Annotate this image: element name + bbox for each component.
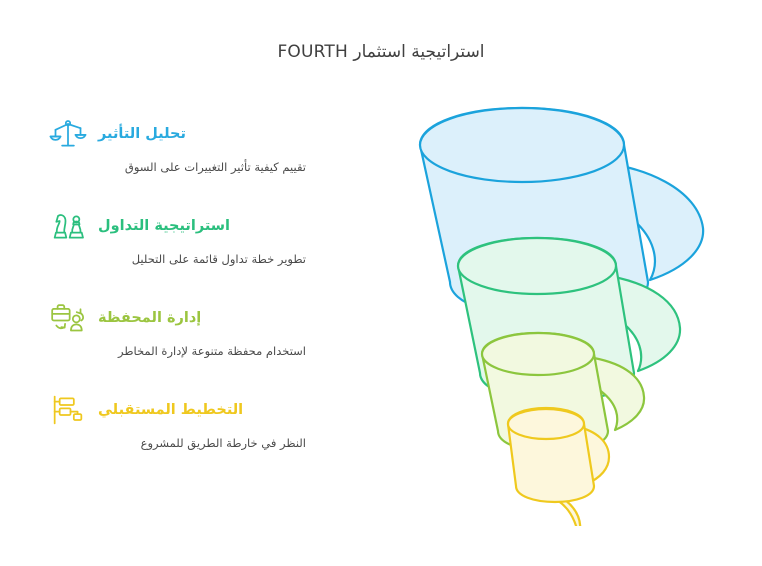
briefcase-person-icon	[48, 298, 88, 338]
list-item-description: استخدام محفظة متنوعة لإدارة المخاطر	[48, 344, 310, 359]
list-item-header: استراتيجية التداول	[48, 204, 310, 248]
list-item-header: تحليل التأثير	[48, 112, 310, 156]
slide-canvas: استراتيجية استثمار FOURTH تحليل التأثير	[0, 0, 762, 566]
list-item-title: التخطيط المستقبلي	[98, 403, 243, 418]
list-item[interactable]: استراتيجية التداول تطوير خطة تداول قائمة…	[48, 204, 310, 296]
list-item-header: التخطيط المستقبلي	[48, 388, 310, 432]
list-item-header: إدارة المحفظة	[48, 296, 310, 340]
list-item[interactable]: تحليل التأثير	[48, 112, 310, 204]
list-item-description: تقييم كيفية تأثير التغييرات على السوق	[48, 160, 310, 175]
list-item-description: تطوير خطة تداول قائمة على التحليل	[48, 252, 310, 267]
list-item[interactable]: إدارة المحفظة استخدام محفظة مت	[48, 296, 310, 388]
roadmap-chart-icon	[48, 390, 88, 430]
list-item-description: النظر في خارطة الطريق للمشروع	[48, 436, 310, 451]
page-title: استراتيجية استثمار FOURTH	[0, 42, 762, 62]
spiral-funnel-graphic	[398, 86, 748, 526]
item-list: تحليل التأثير	[48, 112, 310, 480]
list-item-title: تحليل التأثير	[98, 127, 186, 142]
chess-pieces-icon	[48, 206, 88, 246]
list-item-title: إدارة المحفظة	[98, 311, 201, 326]
list-item-title: استراتيجية التداول	[98, 219, 230, 234]
balance-scales-icon	[48, 114, 88, 154]
list-item[interactable]: التخطيط المستقبلي النظر في خارطة الطريق …	[48, 388, 310, 480]
